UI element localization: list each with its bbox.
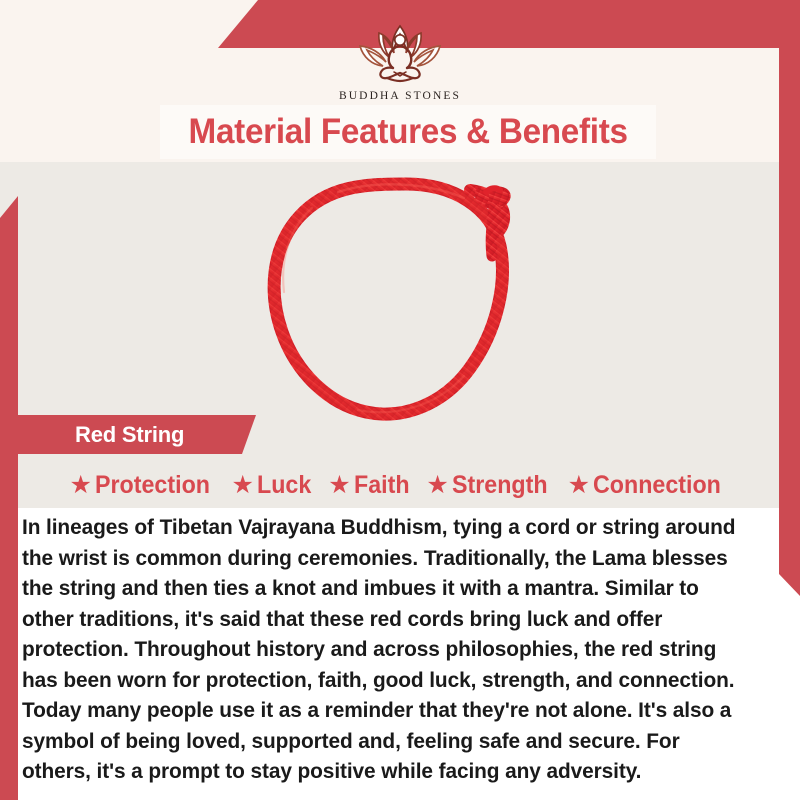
benefit-item-strength: ★ Strength <box>426 471 554 500</box>
benefit-item-protection: ★ Protection <box>69 471 218 500</box>
benefit-label: Faith <box>354 471 410 500</box>
product-image-red-string-bracelet <box>238 172 568 430</box>
brand-name: BUDDHA STONES <box>339 90 461 102</box>
lotus-meditation-figure-icon <box>334 20 466 86</box>
page-title: Material Features & Benefits <box>188 112 627 152</box>
description-text: In lineages of Tibetan Vajrayana Buddhis… <box>22 512 751 787</box>
benefit-item-faith: ★ Faith <box>328 471 413 500</box>
star-icon: ★ <box>568 473 590 498</box>
benefit-item-connection: ★ Connection <box>568 471 731 500</box>
benefit-label: Luck <box>257 471 311 500</box>
benefit-label: Protection <box>95 471 210 500</box>
decorative-band-left <box>0 196 18 800</box>
description-panel: In lineages of Tibetan Vajrayana Buddhis… <box>22 512 774 796</box>
star-icon: ★ <box>328 473 350 498</box>
benefit-label: Connection <box>593 471 721 500</box>
star-icon: ★ <box>69 473 91 498</box>
brand-logo: BUDDHA STONES <box>0 20 800 102</box>
benefit-item-luck: ★ Luck <box>232 471 316 500</box>
page-title-band: Material Features & Benefits <box>160 105 656 159</box>
benefit-label: Strength <box>452 471 548 500</box>
star-icon: ★ <box>426 473 448 498</box>
star-icon: ★ <box>232 473 254 498</box>
product-label-band: Red String <box>18 415 256 454</box>
infographic-page: BUDDHA STONES Material Features & Benefi… <box>0 0 800 800</box>
benefits-list: ★ Protection ★ Luck ★ Faith ★ Strength ★… <box>24 466 776 504</box>
product-label: Red String <box>75 422 184 448</box>
